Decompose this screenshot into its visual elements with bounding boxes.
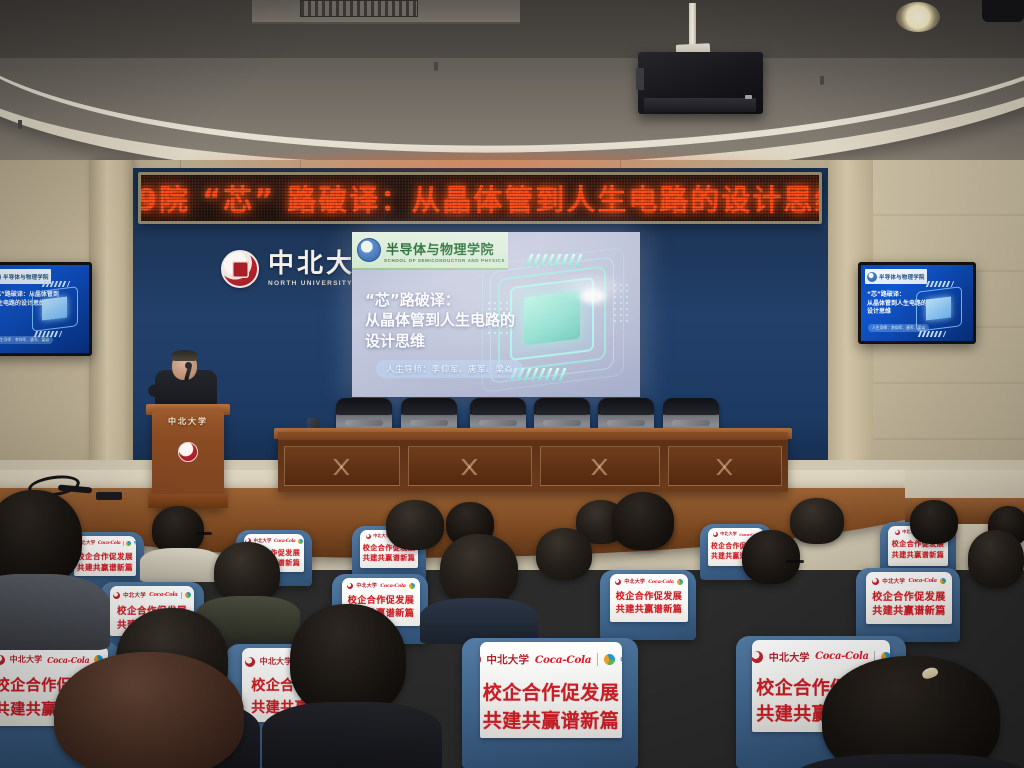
- wall-tv-right: 半导体与物理学院 “芯”路破译： 从晶体管到人生电路的 设计思维 人生导师：李仰…: [858, 262, 976, 344]
- seat-sponsor-nuc: 中北大学: [486, 652, 529, 667]
- ceiling-projector: [638, 52, 763, 114]
- podium-seal-icon: [178, 442, 198, 462]
- slide-org-name-en: SCHOOL OF SEMICONDUCTOR AND PHYSICS: [384, 258, 505, 263]
- audience-head: [968, 530, 1024, 588]
- seat-sponsor-cola: Coca-Cola: [380, 583, 405, 589]
- audience-head: [612, 492, 674, 550]
- slide-org-logo-bar: 半导体与物理学院: [352, 232, 508, 270]
- seat-slogan-line-1: 校企合作促发展: [610, 592, 688, 603]
- audience-head: [0, 490, 82, 586]
- seat-sponsor-cofco: 中粮: [134, 540, 136, 546]
- tv-left-chip-illustration: [25, 279, 87, 341]
- audience-head: [790, 498, 844, 544]
- seat-headrest-cover: 中北大学 Coca-Cola 中粮 校企合作促发展 共建共赢谱新篇: [480, 642, 622, 738]
- slide-org-name-cn: 半导体与物理学院: [386, 244, 494, 257]
- seat-sponsor-nuc: 中北大学: [10, 654, 43, 665]
- head-table: [278, 432, 788, 492]
- seat-slogan-line-1: 校企合作促发展: [74, 552, 136, 561]
- led-banner-text: 19院 “芯” 路破译：从晶体管到人生电路的设计思维: [138, 177, 822, 219]
- eyeglasses-icon: [196, 532, 212, 535]
- seat-headrest-cover: 中北大学 Coca-Cola 校企合作促发展 共建共赢谱新篇: [866, 572, 952, 624]
- seat-slogan-line-1: 校企合作促发展: [480, 682, 622, 706]
- audience-head-foreground: [54, 652, 244, 768]
- seat-sponsor-nuc: 中北大学: [720, 531, 737, 537]
- school-emblem-icon: [0, 272, 1, 282]
- left-pillar: [89, 160, 134, 508]
- slide-title-line-3: 设计思维: [365, 331, 540, 351]
- slide-title: “芯”路破译： 从晶体管到人生电路的 设计思维: [365, 290, 540, 351]
- audience-area: 中北大学 Coca-Cola 中粮 校企合作促发展 共建共赢谱新篇 中北大学 C…: [0, 486, 1024, 768]
- seat-headrest-cover: 中北大学 Coca-Cola 中粮 校企合作促发展 共建共赢谱新篇: [74, 536, 136, 576]
- ceiling-hook-icon: [434, 62, 438, 71]
- slide-title-line-2: 从晶体管到人生电路的: [365, 310, 540, 330]
- seat-sponsor-nuc: 中北大学: [769, 649, 810, 664]
- downlight-icon: [896, 2, 940, 32]
- audience-head: [742, 530, 800, 584]
- audience-head-foreground: [822, 656, 1000, 768]
- university-seal-icon: [221, 250, 259, 288]
- seat-headrest-cover: 中北大学 Coca-Cola 校企合作促发展 共建共赢谱新篇: [610, 574, 688, 622]
- seat-sponsor-cola: Coca-Cola: [535, 654, 591, 666]
- podium-university-name: 中北大学: [152, 416, 224, 427]
- school-emblem-icon: [867, 272, 877, 282]
- ceiling: [0, 0, 1024, 175]
- seat-slogan-line-2: 共建共赢谱新篇: [866, 606, 952, 619]
- seat-sponsor-cola: Coca-Cola: [98, 541, 121, 546]
- eyeglasses-icon: [786, 560, 804, 563]
- seat-sponsor-cola: Coca-Cola: [149, 592, 177, 598]
- seat-sponsor-cofco: 中粮: [620, 655, 622, 665]
- audience-shoulders: [140, 548, 222, 582]
- seat-sponsor-nuc: 中北大学: [123, 591, 146, 599]
- speaker-hair: [171, 350, 198, 361]
- microphone-head-icon: [185, 362, 192, 369]
- ceiling-hook-icon: [18, 120, 22, 129]
- seat-sponsor-cola: Coca-Cola: [815, 651, 869, 662]
- seat-sponsor-cola: Coca-Cola: [47, 655, 89, 665]
- seat-sponsor-nuc: 中北大学: [882, 577, 905, 585]
- seat-slogan-line-2: 共建共赢谱新篇: [480, 710, 622, 734]
- projection-screen: 半导体与物理学院 SCHOOL OF SEMICONDUCTOR AND PHY…: [352, 232, 640, 397]
- audience-shoulders: [262, 702, 442, 768]
- audience-head: [152, 506, 204, 554]
- ceiling-hook-icon: [820, 76, 824, 85]
- seat-sponsor-cola: Coca-Cola: [648, 579, 673, 585]
- slide-title-line-1: “芯”路破译：: [365, 290, 540, 310]
- projector-led-icon: [745, 95, 752, 99]
- seat-slogan-line-1: 校企合作促发展: [866, 592, 952, 605]
- auditorium-photo: 19院 “芯” 路破译：从晶体管到人生电路的设计思维 中北大学 NORTH UN…: [0, 0, 1024, 768]
- audience-head: [910, 500, 958, 544]
- seat-sponsor-nuc: 中北大学: [356, 582, 377, 589]
- audience-head: [440, 534, 518, 606]
- led-banner: 19院 “芯” 路破译：从晶体管到人生电路的设计思维: [138, 172, 822, 224]
- tv-right-chip-illustration: [909, 279, 971, 341]
- seat-slogan-line-2: 共建共赢谱新篇: [610, 605, 688, 616]
- seat-sponsor-nuc: 中北大学: [260, 656, 293, 667]
- seat-slogan-line-2: 共建共赢谱新篇: [888, 551, 948, 560]
- seat-slogan-line-2: 共建共赢谱新篇: [74, 563, 136, 572]
- audience-head: [214, 542, 280, 604]
- school-emblem-icon: [357, 238, 381, 262]
- wall-tv-left: 半导体与物理学院 “芯”路破译：从晶体管到人生电路的设计思维 人生导师：李仰军、…: [0, 262, 92, 356]
- seat-sponsor-cola: Coca-Cola: [274, 539, 295, 544]
- seat-sponsor-cola: Coca-Cola: [909, 578, 937, 584]
- seat-sponsor-nuc: 中北大学: [624, 578, 645, 585]
- audience-head: [536, 528, 592, 580]
- audience-head: [290, 604, 406, 716]
- seat-slogan-line-2: 共建共赢谱新篇: [360, 554, 418, 563]
- audience-head: [386, 500, 444, 550]
- projector-lens-icon: [636, 68, 644, 90]
- slide-speakers-label: 人生导师：李仰军、唐军、梁焱: [376, 360, 523, 378]
- audience-shoulders: [0, 574, 110, 650]
- projector-hotspot: [580, 288, 606, 304]
- ceiling-speaker-icon: [982, 0, 1024, 22]
